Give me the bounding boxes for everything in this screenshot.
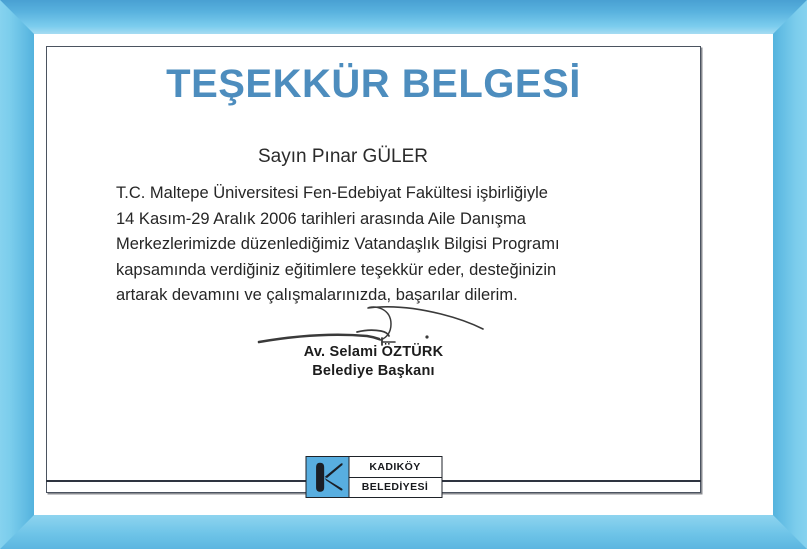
body-line: T.C. Maltepe Üniversitesi Fen-Edebiyat F… [116, 181, 682, 207]
certificate-page: TEŞEKKÜR BELGESİ Sayın Pınar GÜLER T.C. … [0, 0, 807, 549]
logo-line-belediyesi: BELEDİYESİ [349, 478, 441, 498]
frame-band-left [0, 0, 34, 549]
stylized-k-icon [306, 457, 348, 497]
logo-line-kadikoy: KADIKÖY [349, 457, 441, 478]
body-line: Merkezlerimizde düzenlediğimiz Vatandaşl… [116, 232, 682, 258]
certificate-title: TEŞEKKÜR BELGESİ [46, 62, 701, 107]
signature-dot [425, 335, 428, 338]
handwritten-signature-icon [249, 298, 499, 350]
recipient-name: Sayın Pınar GÜLER [258, 146, 428, 168]
kadikoy-belediyesi-logo: KADIKÖY BELEDİYESİ [305, 456, 442, 498]
frame-band-right [773, 0, 807, 549]
frame-band-bottom [0, 515, 807, 549]
signer-name: Av. Selami ÖZTÜRK [46, 344, 701, 360]
body-line: kapsamında verdiğiniz eğitimlere teşekkü… [116, 258, 682, 284]
frame-band-top [0, 0, 807, 34]
signer-role: Belediye Başkanı [46, 363, 701, 379]
body-line: 14 Kasım-29 Aralık 2006 tarihleri arasın… [116, 207, 682, 233]
certificate-content: TEŞEKKÜR BELGESİ Sayın Pınar GÜLER T.C. … [46, 46, 701, 493]
signature-block: Av. Selami ÖZTÜRK Belediye Başkanı [46, 298, 701, 379]
certificate-body: T.C. Maltepe Üniversitesi Fen-Edebiyat F… [116, 181, 682, 309]
logo-wordmark: KADIKÖY BELEDİYESİ [349, 457, 441, 497]
logo-k-mark [306, 457, 349, 497]
